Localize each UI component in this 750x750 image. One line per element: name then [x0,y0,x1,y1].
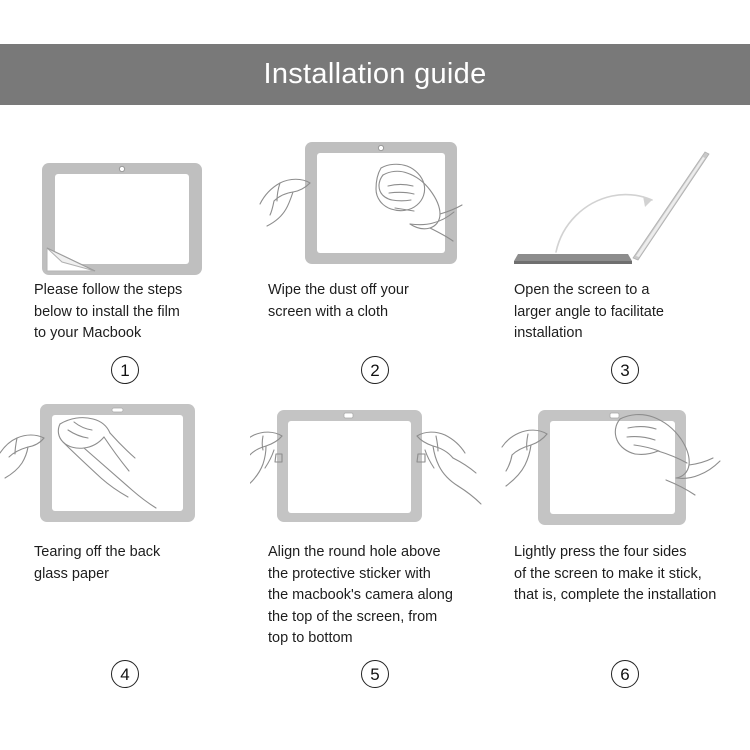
caption-line: the top of the screen, from [268,607,453,629]
caption-line: installation [514,323,664,345]
step-number-badge: 3 [611,356,639,384]
caption-line: Tearing off the back [34,542,160,564]
step-2-illustration [250,130,500,280]
installation-guide-page: Installation guide Please follow the [0,0,750,750]
page-title: Installation guide [263,60,486,89]
caption-line: the macbook's camera along [268,585,453,607]
caption-line: glass paper [34,564,160,586]
step-card-5: Align the round hole above the protectiv… [250,392,500,688]
step-number-badge: 4 [111,660,139,688]
step-5-badge-row: 5 [250,660,500,688]
caption-line: Open the screen to a [514,280,664,302]
caption-line: Lightly press the four sides [514,542,716,564]
step-number-badge: 2 [361,356,389,384]
step-1-illustration [0,130,250,280]
step-6-illustration [500,392,750,542]
hands-tearing-back-paper-icon [0,392,250,542]
caption-line: that is, complete the installation [514,585,716,607]
caption-line: screen with a cloth [268,302,409,324]
hand-wiping-screen-with-cloth-icon [250,130,500,280]
caption-line: Align the round hole above [268,542,453,564]
step-5-caption: Align the round hole above the protectiv… [250,542,459,654]
caption-line: the protective sticker with [268,564,453,586]
step-1-caption: Please follow the steps below to install… [0,280,188,350]
step-6-badge-row: 6 [500,660,750,688]
caption-line: Please follow the steps [34,280,182,302]
step-card-4: Tearing off the back glass paper 4 [0,392,250,688]
step-6-caption: Lightly press the four sides of the scre… [500,542,722,654]
step-5-illustration [250,392,500,542]
hand-pressing-four-sides-of-screen-icon [500,392,750,542]
caption-line: to your Macbook [34,323,182,345]
step-card-2: Wipe the dust off your screen with a clo… [250,130,500,384]
step-3-caption: Open the screen to a larger angle to fac… [500,280,670,350]
step-3-badge-row: 3 [500,356,750,384]
tablet-with-peeling-film-corner-icon [0,130,250,280]
laptop-opening-to-larger-angle-icon [500,130,750,280]
step-4-illustration [0,392,250,542]
step-1-badge-row: 1 [0,356,266,384]
caption-line: larger angle to facilitate [514,302,664,324]
step-number-badge: 6 [611,660,639,688]
header-band: Installation guide [0,44,750,105]
step-number-badge: 1 [111,356,139,384]
two-hands-aligning-film-over-screen-icon [250,392,500,542]
caption-line: of the screen to make it stick, [514,564,716,586]
step-card-6: Lightly press the four sides of the scre… [500,392,750,688]
caption-line: top to bottom [268,628,453,650]
steps-grid: Please follow the steps below to install… [0,130,750,688]
step-number-badge: 5 [361,660,389,688]
step-4-badge-row: 4 [0,660,266,688]
step-card-3: Open the screen to a larger angle to fac… [500,130,750,384]
caption-line: below to install the film [34,302,182,324]
caption-line: Wipe the dust off your [268,280,409,302]
step-2-badge-row: 2 [250,356,500,384]
step-4-caption: Tearing off the back glass paper [0,542,166,654]
step-3-illustration [500,130,750,280]
step-2-caption: Wipe the dust off your screen with a clo… [250,280,415,350]
step-card-1: Please follow the steps below to install… [0,130,250,384]
